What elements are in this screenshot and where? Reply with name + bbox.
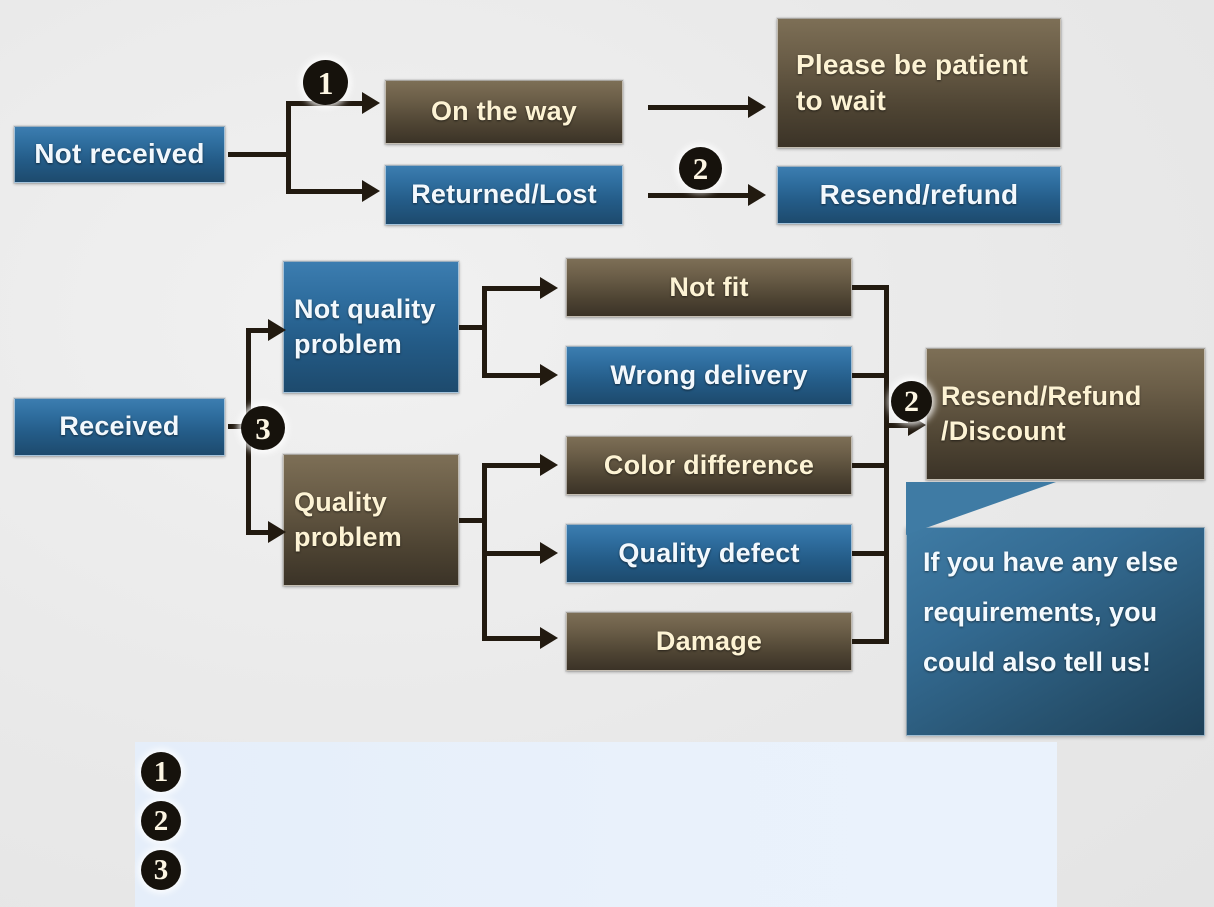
connector-qp-up — [482, 463, 544, 468]
node-not-received[interactable]: Not received — [14, 126, 225, 183]
arrowhead-to-not-fit — [540, 277, 558, 299]
node-quality-defect-label: Quality defect — [618, 536, 799, 571]
connector-not-received-down — [286, 189, 366, 194]
node-resend-refund-discount[interactable]: Resend/Refund /Discount — [926, 348, 1205, 480]
collector-stub-color-difference — [852, 463, 888, 468]
node-quality-problem-label: Quality problem — [294, 485, 452, 555]
arrowhead-to-not-quality-problem — [268, 319, 286, 341]
arrowhead-to-damage — [540, 627, 558, 649]
legend-marker-1: 1 — [141, 752, 181, 792]
node-received-label: Received — [59, 409, 179, 444]
legend-marker-3: 3 — [141, 850, 181, 890]
connector-not-received-split — [286, 101, 291, 194]
connector-returned-to-resend — [648, 193, 753, 198]
node-on-the-way[interactable]: On the way — [385, 80, 623, 144]
node-wrong-delivery-label: Wrong delivery — [610, 358, 807, 393]
collector-stub-damage — [852, 639, 888, 644]
node-not-received-label: Not received — [34, 136, 204, 172]
node-resend-refund-discount-label: Resend/Refund /Discount — [941, 379, 1198, 449]
callout-bubble[interactable]: If you have any else requirements, you c… — [906, 527, 1205, 736]
node-wrong-delivery[interactable]: Wrong delivery — [566, 346, 852, 405]
node-damage[interactable]: Damage — [566, 612, 852, 671]
node-color-difference-label: Color difference — [604, 448, 814, 483]
node-please-be-patient[interactable]: Please be patient to wait — [777, 18, 1061, 148]
legend-panel — [135, 742, 1057, 907]
step-marker-2-right-label: 2 — [904, 387, 919, 417]
node-quality-problem[interactable]: Quality problem — [283, 454, 459, 586]
arrowhead-to-returned-lost — [362, 180, 380, 202]
node-quality-defect[interactable]: Quality defect — [566, 524, 852, 583]
arrowhead-to-quality-defect — [540, 542, 558, 564]
connector-nqp-up — [482, 286, 544, 291]
legend-marker-1-label: 1 — [154, 758, 169, 787]
node-received[interactable]: Received — [14, 398, 225, 456]
flowchart-canvas: Not received 1 On the way Returned/Lost … — [0, 0, 1214, 907]
step-marker-2-right: 2 — [891, 381, 932, 422]
connector-nqp-split — [482, 286, 487, 378]
collector-bus — [884, 285, 889, 644]
arrowhead-to-color-difference — [540, 454, 558, 476]
legend-marker-2: 2 — [141, 801, 181, 841]
arrowhead-to-quality-problem — [268, 521, 286, 543]
arrowhead-to-resend-refund — [748, 184, 766, 206]
connector-qp-low — [482, 636, 544, 641]
arrowhead-to-on-the-way — [362, 92, 380, 114]
node-returned-lost[interactable]: Returned/Lost — [385, 165, 623, 225]
node-not-quality-problem[interactable]: Not quality problem — [283, 261, 459, 393]
legend-marker-3-label: 3 — [154, 856, 169, 885]
collector-stub-quality-defect — [852, 551, 888, 556]
legend-marker-2-label: 2 — [154, 807, 169, 836]
node-not-quality-problem-label: Not quality problem — [294, 292, 452, 362]
connector-qp-mid — [482, 551, 544, 556]
node-on-the-way-label: On the way — [431, 94, 577, 129]
connector-not-received-stem — [228, 152, 290, 157]
step-marker-1-top-label: 1 — [318, 67, 334, 99]
step-marker-2-top: 2 — [679, 147, 722, 190]
collector-stub-not-fit — [852, 285, 888, 290]
arrowhead-to-wrong-delivery — [540, 364, 558, 386]
connector-on-the-way-to-patient — [648, 105, 753, 110]
step-marker-3: 3 — [241, 406, 285, 450]
connector-nqp-down — [482, 373, 544, 378]
node-returned-lost-label: Returned/Lost — [411, 177, 597, 212]
callout-tail — [906, 482, 1056, 535]
node-resend-refund[interactable]: Resend/refund — [777, 166, 1061, 224]
node-resend-refund-label: Resend/refund — [820, 177, 1019, 213]
collector-stub-wrong-delivery — [852, 373, 888, 378]
callout-text: If you have any else requirements, you c… — [923, 547, 1178, 677]
node-please-be-patient-label: Please be patient to wait — [796, 47, 1054, 120]
step-marker-2-top-label: 2 — [693, 153, 709, 184]
node-not-fit[interactable]: Not fit — [566, 258, 852, 317]
step-marker-3-label: 3 — [255, 413, 271, 444]
node-color-difference[interactable]: Color difference — [566, 436, 852, 495]
node-damage-label: Damage — [656, 624, 762, 659]
arrowhead-to-please-be-patient — [748, 96, 766, 118]
step-marker-1-top: 1 — [303, 60, 348, 105]
node-not-fit-label: Not fit — [669, 270, 748, 305]
